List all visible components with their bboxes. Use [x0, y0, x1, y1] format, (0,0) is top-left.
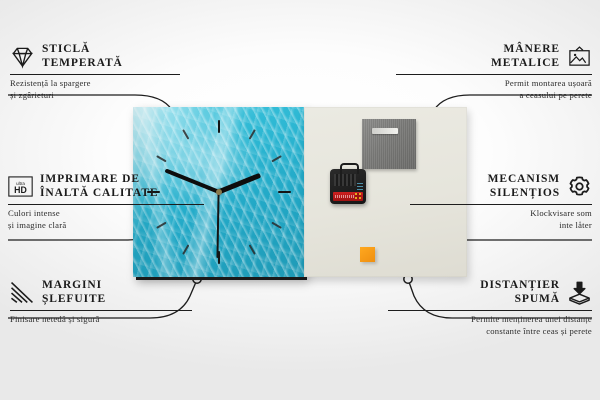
callout-head: MARGINI ȘLEFUITE	[10, 278, 210, 307]
title-line-2: TEMPERATĂ	[42, 56, 123, 70]
callout-imprimare-inalta-calitate: ultra HD IMPRIMARE DE ÎNALTĂ CALITATE Cu…	[8, 172, 228, 232]
foam-spacer	[360, 247, 375, 262]
tick-3	[219, 191, 291, 193]
title-line-1: MÂNERE	[491, 42, 560, 56]
sub-line-2: constante între ceas și perete	[372, 326, 592, 338]
callout-title: MECANISM SILENȚIOS	[488, 172, 560, 201]
callout-head: STICLĂ TEMPERATĂ	[10, 42, 200, 71]
callout-distantier-spuma: DISTANȚIER SPUMĂ Permite menținerea unei…	[372, 278, 592, 338]
callout-rule	[388, 310, 592, 311]
title-line-1: MECANISM	[488, 172, 560, 186]
callout-margini-slefuite: MARGINI ȘLEFUITE Finisare netedă și sigu…	[10, 278, 210, 326]
callout-subtitle: Permit montarea ușoară a ceasului pe per…	[382, 78, 592, 101]
battery-plus-terminal	[355, 193, 361, 199]
callout-head: MECANISM SILENȚIOS	[392, 172, 592, 201]
callout-subtitle: Rezistență la spargere și zgârieturi	[10, 78, 200, 101]
title-line-1: MARGINI	[42, 278, 106, 292]
battery-label	[335, 195, 355, 198]
press-down-foam-icon	[567, 280, 592, 305]
mechanism-grill	[334, 174, 356, 186]
callout-title: STICLĂ TEMPERATĂ	[42, 42, 123, 71]
battery	[333, 192, 363, 201]
callout-subtitle: Klockvisare som inte låter	[392, 208, 592, 231]
title-line-1: IMPRIMARE DE	[40, 172, 158, 186]
callout-subtitle: Permite menținerea unei distanțe constan…	[372, 314, 592, 337]
sub-line-2: și imagine clară	[8, 220, 228, 232]
title-line-1: DISTANȚIER	[480, 278, 560, 292]
title-line-2: ÎNALTĂ CALITATE	[40, 186, 158, 200]
callout-subtitle: Culori intense și imagine clară	[8, 208, 228, 231]
svg-text:HD: HD	[14, 185, 27, 195]
sub-line-1: Finisare netedă și sigură	[10, 314, 210, 326]
metal-hanger-plate	[362, 119, 416, 169]
diamond-icon	[10, 44, 35, 69]
callout-rule	[410, 204, 592, 205]
picture-hanger-icon	[567, 44, 592, 69]
callout-rule	[10, 310, 192, 311]
mechanism-dots	[357, 183, 363, 191]
sub-line-2: inte låter	[392, 220, 592, 232]
callout-title: MÂNERE METALICE	[491, 42, 560, 71]
title-line-2: SPUMĂ	[480, 292, 560, 306]
sub-line-1: Culori intense	[8, 208, 228, 220]
callout-head: MÂNERE METALICE	[382, 42, 592, 71]
callout-title: MARGINI ȘLEFUITE	[42, 278, 106, 307]
clock-mechanism	[330, 169, 366, 204]
ultra-hd-icon: ultra HD	[8, 174, 33, 199]
mechanism-hook	[340, 163, 359, 174]
callout-manere-metalice: MÂNERE METALICE Permit montarea ușoară a…	[382, 42, 592, 102]
sub-line-1: Rezistență la spargere	[10, 78, 200, 90]
title-line-2: SILENȚIOS	[488, 186, 560, 200]
sub-line-1: Permite menținerea unei distanțe	[372, 314, 592, 326]
polished-edges-icon	[10, 280, 35, 305]
title-line-2: ȘLEFUITE	[42, 292, 106, 306]
infographic-stage: STICLĂ TEMPERATĂ Rezistență la spargere …	[0, 0, 600, 400]
hanger-slot	[372, 128, 398, 134]
callout-head: DISTANȚIER SPUMĂ	[372, 278, 592, 307]
callout-subtitle: Finisare netedă și sigură	[10, 314, 210, 326]
sub-line-1: Permit montarea ușoară	[382, 78, 592, 90]
callout-sticla-temperata: STICLĂ TEMPERATĂ Rezistență la spargere …	[10, 42, 200, 102]
callout-rule	[8, 204, 204, 205]
callout-rule	[396, 74, 592, 75]
sub-line-2: a ceasului pe perete	[382, 90, 592, 102]
callout-title: DISTANȚIER SPUMĂ	[480, 278, 560, 307]
callout-title: IMPRIMARE DE ÎNALTĂ CALITATE	[40, 172, 158, 201]
callout-mecanism-silentios: MECANISM SILENȚIOS Klockvisare som inte …	[392, 172, 592, 232]
callout-rule	[10, 74, 180, 75]
sub-line-1: Klockvisare som	[392, 208, 592, 220]
title-line-1: STICLĂ	[42, 42, 123, 56]
title-line-2: METALICE	[491, 56, 560, 70]
callout-head: ultra HD IMPRIMARE DE ÎNALTĂ CALITATE	[8, 172, 228, 201]
sub-line-2: și zgârieturi	[10, 90, 200, 102]
gear-icon	[567, 174, 592, 199]
